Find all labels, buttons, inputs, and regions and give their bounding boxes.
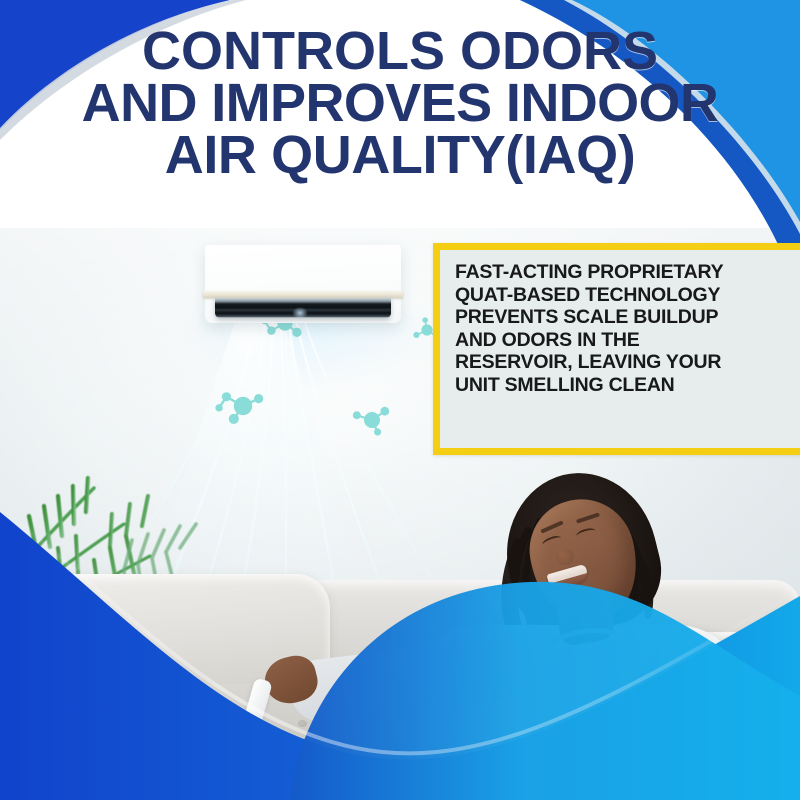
page-title: CONTROLS ODORS AND IMPROVES INDOOR AIR Q… xyxy=(0,26,800,181)
callout-line-2: QUAT-BASED TECHNOLOGY xyxy=(455,284,800,307)
callout-line-3: PREVENTS SCALE BUILDUP xyxy=(455,306,800,329)
feature-callout-box: FAST-ACTING PROPRIETARY QUAT-BASED TECHN… xyxy=(433,243,800,455)
feature-callout-text: FAST-ACTING PROPRIETARY QUAT-BASED TECHN… xyxy=(455,261,800,396)
wall-mounted-split-air-conditioner xyxy=(205,245,401,323)
bottom-blue-wave xyxy=(0,500,800,800)
callout-line-6: UNIT SMELLING CLEAN xyxy=(455,374,800,397)
headline-line-3: AIR QUALITY(IAQ) xyxy=(0,130,800,182)
headline-line-1: CONTROLS ODORS xyxy=(0,26,800,78)
ac-front-panel-lip xyxy=(203,291,403,298)
feature-callout-inner: FAST-ACTING PROPRIETARY QUAT-BASED TECHN… xyxy=(440,250,800,448)
headline-line-2: AND IMPROVES INDOOR xyxy=(0,78,800,130)
callout-line-5: RESERVOIR, LEAVING YOUR xyxy=(455,351,800,374)
poster-canvas: CONTROLS ODORS AND IMPROVES INDOOR AIR Q… xyxy=(0,0,800,800)
callout-line-4: AND ODORS IN THE xyxy=(455,329,800,352)
callout-line-1: FAST-ACTING PROPRIETARY xyxy=(455,261,800,284)
ac-air-vent xyxy=(215,298,391,318)
